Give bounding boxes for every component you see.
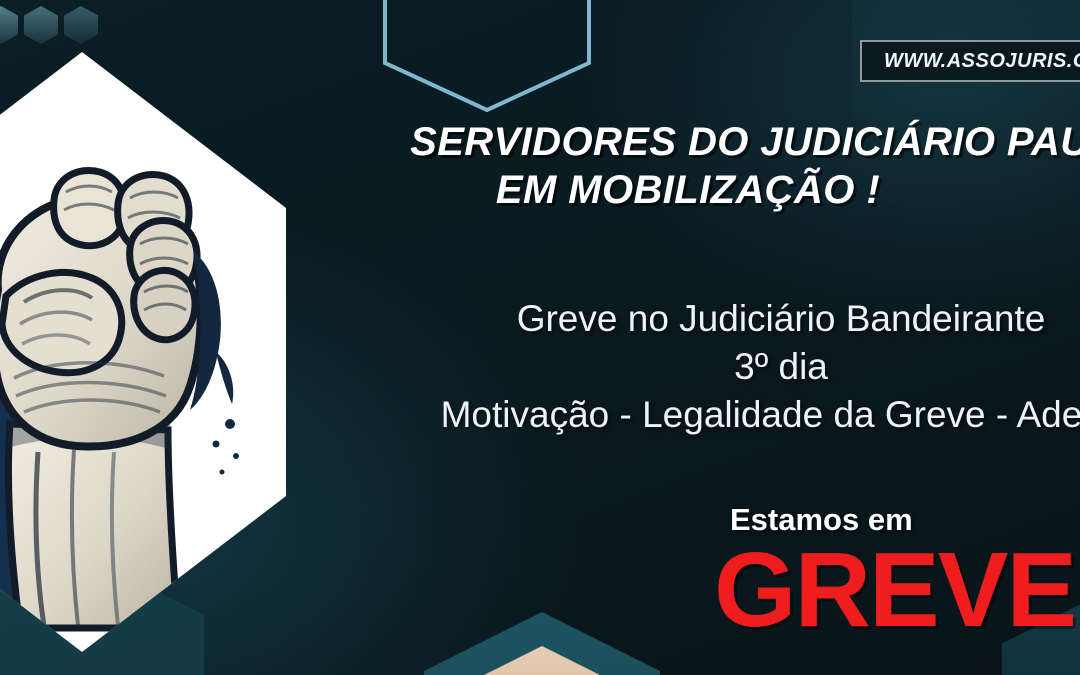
hexagon-dot-icon xyxy=(24,6,58,44)
headline-line-2: EM MOBILIZAÇÃO ! xyxy=(132,166,1080,214)
poster-canvas: WWW.ASSOJURIS.OR SERVIDORES DO JUDICIÁRI… xyxy=(0,0,1080,675)
body-line-2: 3º dia xyxy=(340,343,1080,391)
strike-block: Estamos em GREVE xyxy=(730,502,1080,642)
body-line-3: Motivação - Legalidade da Greve - Adesã xyxy=(340,391,1080,439)
hexagon-dot-icon xyxy=(0,6,18,44)
body-copy: Greve no Judiciário Bandeirante 3º dia M… xyxy=(352,295,1080,439)
website-url-text: WWW.ASSOJURIS.OR xyxy=(884,50,1080,73)
headline-line-1: SERVIDORES DO JUDICIÁRIO PAULIST xyxy=(344,118,1080,166)
website-url-badge[interactable]: WWW.ASSOJURIS.OR xyxy=(860,40,1080,82)
hexagon-dot-icon xyxy=(64,6,98,44)
hexagon-accent-icon xyxy=(424,612,660,675)
strike-word: GREVE xyxy=(714,538,1080,642)
raised-fist-icon xyxy=(0,52,286,652)
raised-fist-panel xyxy=(0,52,286,652)
hexagon-outline-icon xyxy=(383,0,591,112)
page-title: SERVIDORES DO JUDICIÁRIO PAULIST EM MOBI… xyxy=(344,118,1080,214)
hexagon-accent-icon xyxy=(466,646,618,675)
body-line-1: Greve no Judiciário Bandeirante xyxy=(340,295,1080,343)
